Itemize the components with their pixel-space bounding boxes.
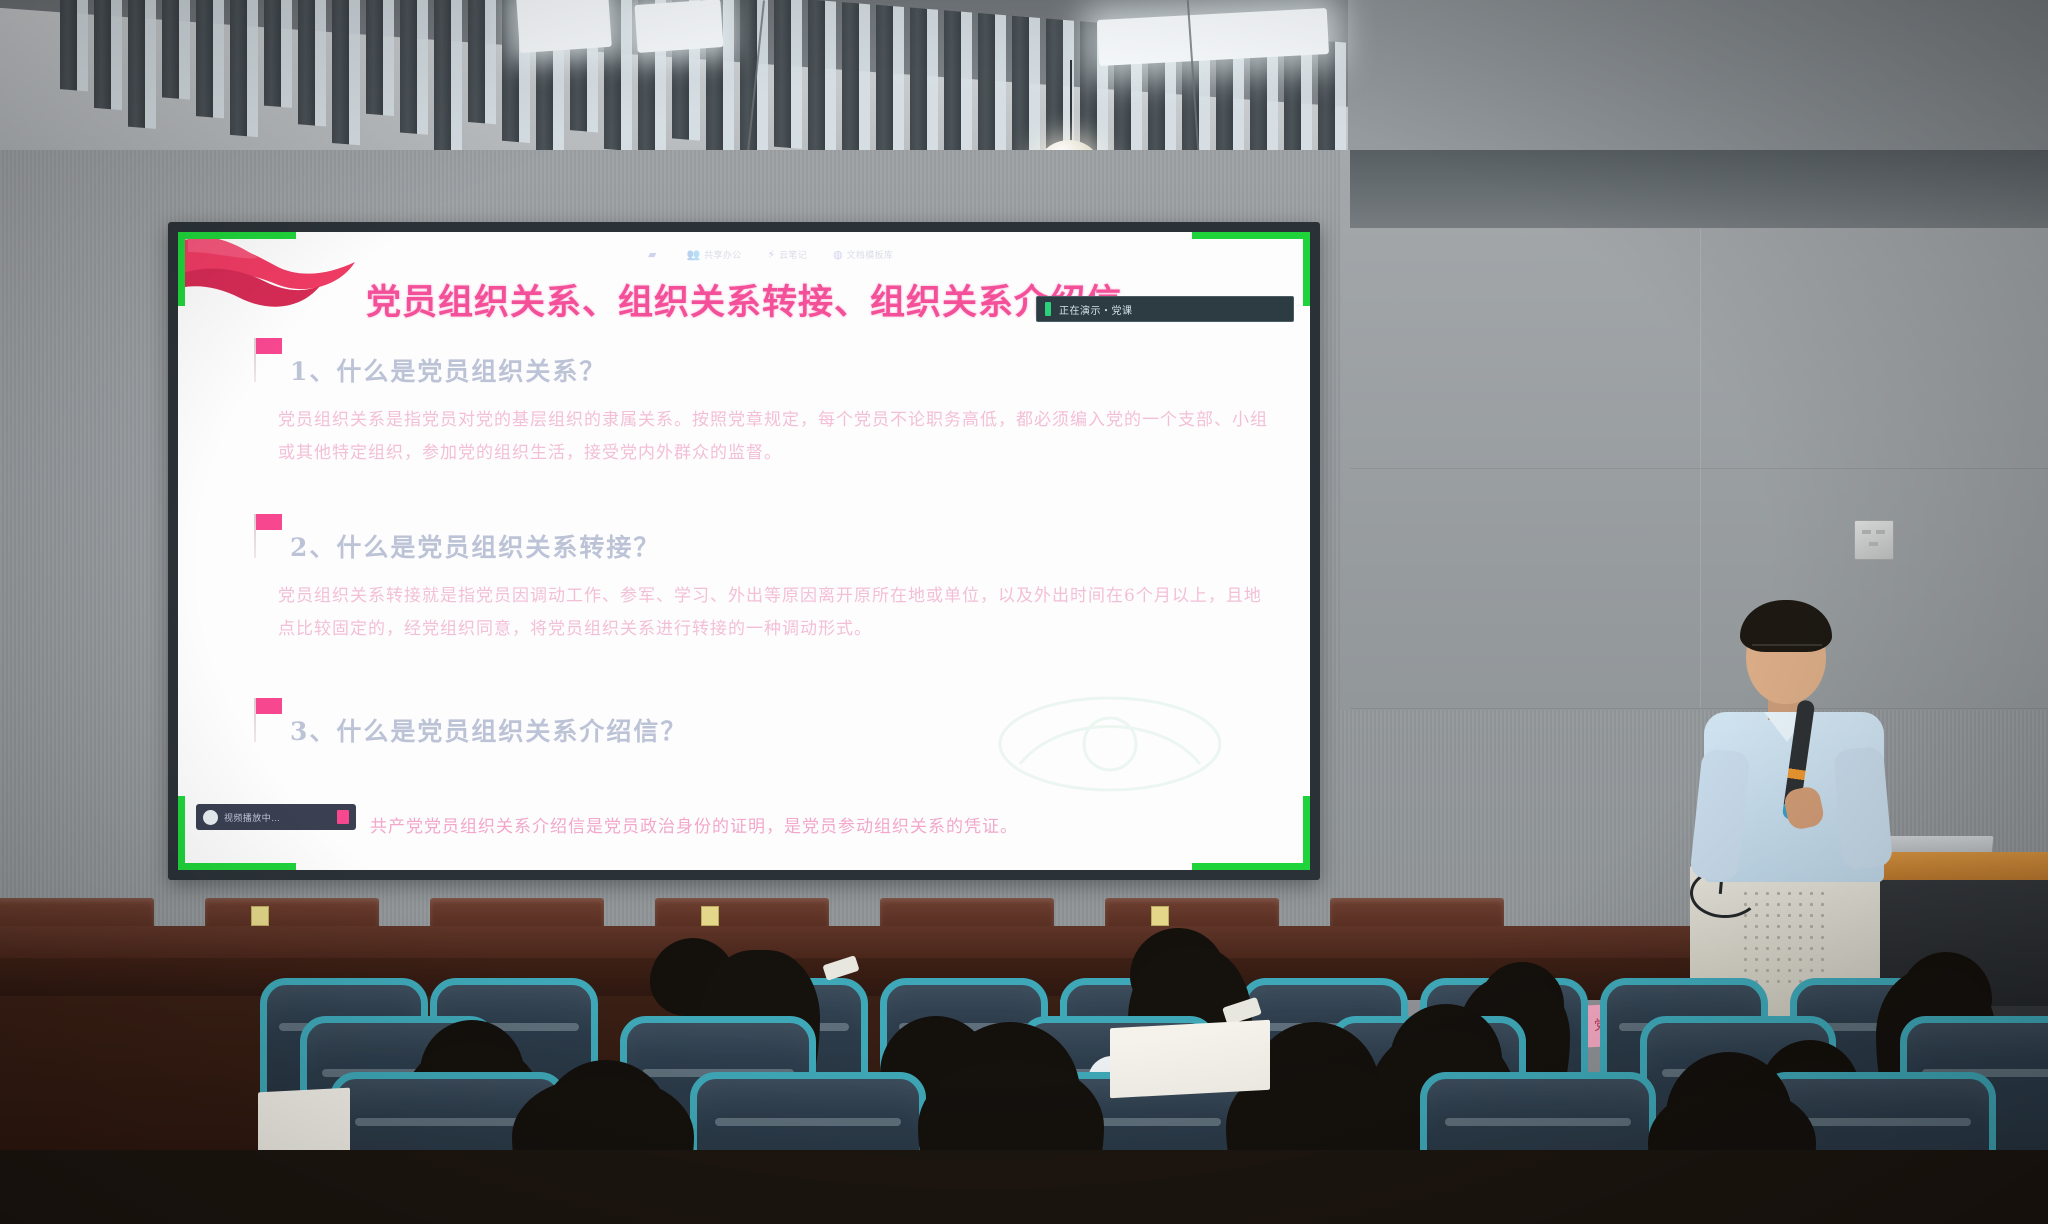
- mini-toolbar-item: ⚡ 云笔记: [767, 248, 807, 261]
- chair-number-tag: [701, 906, 719, 926]
- chart-icon: ▰: [648, 248, 656, 261]
- lightning-icon: ⚡: [767, 248, 775, 261]
- floor: [0, 1150, 2048, 1224]
- ceiling-baffle: [60, 0, 77, 91]
- mini-toolbar-label: 文档模板库: [847, 248, 894, 261]
- wall-upper-band: [1350, 150, 2048, 228]
- section-heading-row: 2、什么是党员组织关系转接？: [248, 528, 1270, 564]
- corner-marker-icon: [178, 232, 185, 306]
- mini-toolbar-label: 共享办公: [704, 248, 741, 261]
- chip-accent-icon: [337, 810, 349, 824]
- ceiling-baffle: [876, 5, 893, 156]
- pink-flag-icon: [248, 694, 284, 742]
- ceiling-baffle: [978, 13, 995, 164]
- section-body: 党员组织关系转接就是指党员因调动工作、参军、学习、外出等原因离开原所在地或单位，…: [278, 580, 1270, 646]
- section-heading-row: 1、什么是党员组织关系？: [248, 352, 1270, 388]
- ceiling-baffle: [332, 0, 349, 144]
- corner-marker-icon: [178, 863, 296, 870]
- mini-toolbar-item: ◍ 文档模板库: [833, 248, 893, 261]
- pendant-cord: [1070, 60, 1072, 152]
- mini-toolbar-item: ▰: [648, 248, 660, 261]
- ceiling-baffle: [774, 0, 791, 148]
- ceiling-baffle: [434, 0, 451, 153]
- section-heading: 1、什么是党员组织关系？: [290, 352, 606, 388]
- pink-flag-icon: [248, 510, 284, 558]
- wall-socket-icon: [1854, 520, 1894, 560]
- people-icon: 👥: [686, 248, 700, 261]
- ceiling-baffle: [94, 0, 111, 109]
- corner-marker-icon: [1192, 232, 1310, 239]
- corner-marker-icon: [1303, 796, 1310, 870]
- ceiling-baffle: [468, 0, 485, 123]
- slide-mini-toolbar: ▰ 👥 共享办公 ⚡ 云笔记 ◍ 文档模板库: [648, 248, 893, 261]
- presenter-arm-right: [1833, 746, 1893, 870]
- ceiling-baffle: [196, 0, 213, 117]
- ceiling-baffle: [298, 0, 315, 126]
- handout-paper: [1110, 1020, 1270, 1098]
- wall-tile: [1350, 468, 1701, 709]
- ceiling-baffle: [230, 0, 247, 136]
- pink-flag-icon: [248, 334, 284, 382]
- ceiling-baffle: [128, 0, 145, 128]
- notification-label: 正在演示・党课: [1059, 302, 1133, 317]
- slide-section-3: 3、什么是党员组织关系介绍信？: [248, 712, 1270, 748]
- player-chip-label: 视频播放中…: [224, 811, 331, 824]
- chair-number-tag: [251, 906, 269, 926]
- presenter-figure: [1690, 600, 1910, 880]
- presenting-notification[interactable]: 正在演示・党课: [1036, 296, 1294, 322]
- ceiling-baffle: [264, 0, 281, 107]
- status-indicator-icon: [1045, 302, 1051, 316]
- glasses-icon: [1752, 644, 1822, 659]
- section-heading: 2、什么是党员组织关系转接？: [290, 528, 660, 564]
- lecture-hall-scene: ▰ 👥 共享办公 ⚡ 云笔记 ◍ 文档模板库 党员组织关系、组织关系转接、组织关…: [0, 0, 2048, 1224]
- section-body: 共产党党员组织关系介绍信是党员政治身份的证明，是党员参动组织关系的凭证。: [370, 812, 1270, 837]
- globe-icon: ◍: [833, 248, 843, 261]
- chair-number-tag: [1151, 906, 1169, 926]
- ceiling-light-tube: [634, 0, 723, 53]
- ceiling-baffle: [400, 0, 417, 134]
- slide-section-2: 2、什么是党员组织关系转接？ 党员组织关系转接就是指党员因调动工作、参军、学习、…: [248, 528, 1270, 646]
- media-player-chip[interactable]: 视频播放中…: [196, 804, 356, 830]
- section-heading-row: 3、什么是党员组织关系介绍信？: [248, 712, 1270, 748]
- slide-section-1: 1、什么是党员组织关系？ 党员组织关系是指党员对党的基层组织的隶属关系。按照党章…: [248, 352, 1270, 470]
- projection-screen-frame: ▰ 👥 共享办公 ⚡ 云笔记 ◍ 文档模板库 党员组织关系、组织关系转接、组织关…: [168, 222, 1320, 880]
- ceiling-baffle: [808, 0, 825, 167]
- mini-toolbar-item: 👥 共享办公: [686, 248, 741, 261]
- ceiling-baffle: [502, 0, 519, 142]
- ceiling-baffle: [366, 0, 383, 115]
- ceiling-light-tube: [516, 0, 612, 53]
- corner-marker-icon: [1303, 232, 1310, 306]
- wall-tile: [1700, 228, 2048, 469]
- wall-tile: [1350, 228, 1701, 469]
- corner-marker-icon: [178, 232, 296, 239]
- avatar-icon: [203, 810, 218, 825]
- section-heading: 3、什么是党员组织关系介绍信？: [290, 712, 687, 748]
- ceiling-baffle: [162, 0, 179, 99]
- mini-toolbar-label: 云笔记: [779, 248, 807, 261]
- corner-marker-icon: [1192, 863, 1310, 870]
- corner-marker-icon: [178, 796, 185, 870]
- section-body: 党员组织关系是指党员对党的基层组织的隶属关系。按照党章规定，每个党员不论职务高低…: [278, 404, 1270, 470]
- projected-slide[interactable]: ▰ 👥 共享办公 ⚡ 云笔记 ◍ 文档模板库 党员组织关系、组织关系转接、组织关…: [178, 232, 1310, 870]
